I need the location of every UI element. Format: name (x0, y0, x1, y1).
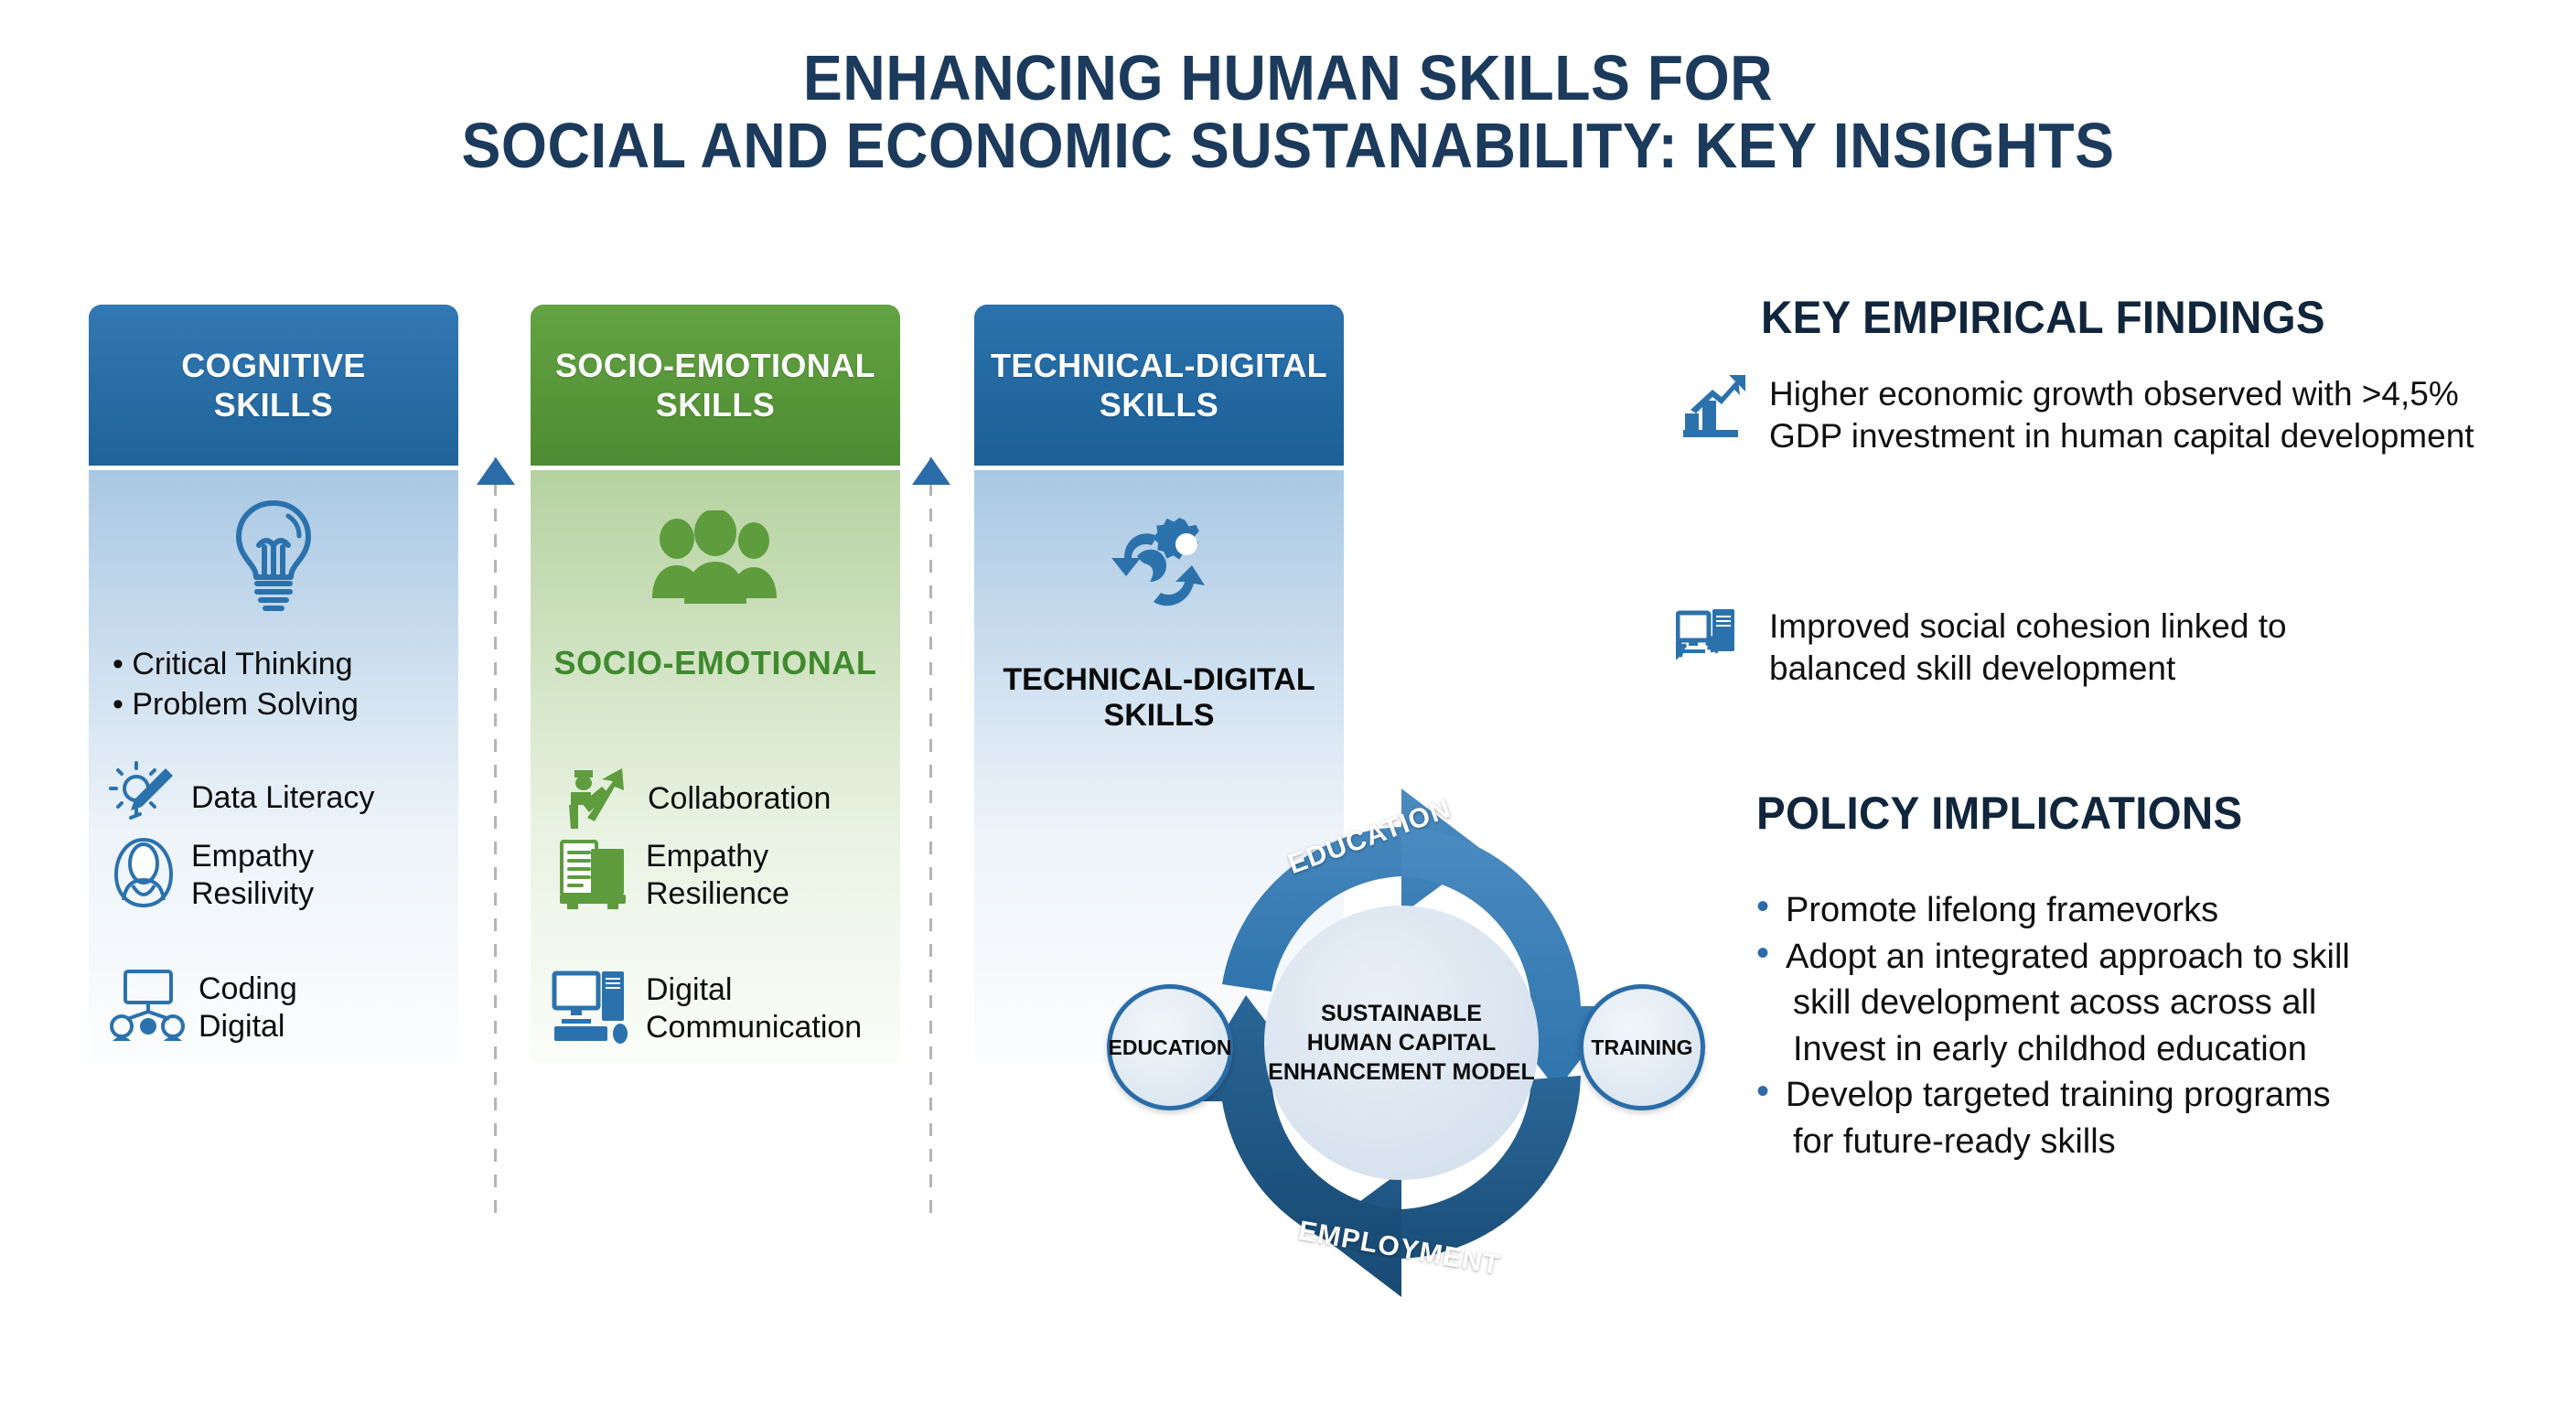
column-cognitive-header-line2: SKILLS (214, 386, 333, 424)
growth-person-arrow-icon (554, 761, 635, 837)
bullet-dot-icon: • (1756, 887, 1769, 926)
socio-item-digital-line1: Digital (646, 972, 732, 1007)
finding-item-1-text: Higher economic growth observed with >4,… (1769, 373, 2474, 458)
cognitive-bullet-list: • Critical Thinking • Problem Solving (113, 644, 449, 724)
socio-item-collaboration[interactable]: Collaboration (554, 761, 831, 837)
desktop-computer-icon (549, 968, 633, 1049)
books-documents-icon (554, 836, 633, 914)
cognitive-item-data-literacy-label: Data Literacy (191, 779, 374, 816)
column-socio-header: SOCIO-EMOTIONAL SKILLS (531, 305, 900, 466)
column-cognitive-header-line1: COGNITIVE (181, 347, 366, 384)
finding-item-2-line1: Improved social cohesion linked to (1769, 607, 2287, 645)
page-title: ENHANCING HUMAN SKILLS FOR SOCIAL AND EC… (0, 44, 2576, 179)
policy-item-2[interactable]: • Adopt an integrated approach to skill (1756, 934, 2561, 981)
infographic-canvas: ENHANCING HUMAN SKILLS FOR SOCIAL AND EC… (0, 0, 2576, 1405)
cognitive-bullet-2: • Problem Solving (113, 684, 449, 724)
cycle-node-education[interactable]: EDUCATION (1107, 984, 1233, 1110)
section-title-policy-implications: POLICY IMPLICATIONS (1756, 787, 2242, 840)
lightbulb-icon (222, 496, 325, 621)
finding-item-1[interactable]: Higher economic growth observed with >4,… (1681, 373, 2505, 458)
cycle-node-training[interactable]: TRAINING (1579, 984, 1705, 1110)
policy-item-4: Invest in early childhod education (1756, 1026, 2561, 1073)
cognitive-item-coding[interactable]: Coding Digital (109, 968, 297, 1047)
bullet-dot-icon: • (1756, 934, 1769, 972)
column-cognitive-header: COGNITIVE SKILLS (89, 305, 458, 466)
socio-item-empathy[interactable]: Empathy Resilience (554, 836, 789, 914)
computer-gears-icon (1676, 606, 1749, 680)
policy-item-1[interactable]: • Promote lifelong framevorks (1756, 887, 2561, 934)
cognitive-bullet-1: • Critical Thinking (113, 644, 449, 684)
cognitive-item-empathy-line1: Empathy (191, 839, 314, 874)
column-cognitive-skills[interactable]: COGNITIVE SKILLS • Critical Thin (89, 305, 458, 1063)
column-separator-2 (929, 457, 932, 1226)
technical-mid-label-line1: TECHNICAL-DIGITAL (1003, 662, 1315, 697)
column-socio-header-line1: SOCIO-EMOTIONAL (555, 347, 875, 384)
column-technical-header-line1: TECHNICAL-DIGITAL (991, 347, 1327, 384)
policy-item-4-text: Invest in early childhod education (1793, 1030, 2307, 1068)
cognitive-item-data-literacy[interactable]: Data Literacy (109, 761, 374, 835)
cognitive-item-coding-line1: Coding (199, 971, 297, 1006)
monitor-network-icon (109, 968, 186, 1047)
cycle-node-education-label: EDUCATION (1109, 1035, 1232, 1060)
socio-item-empathy-line2: Resilience (646, 876, 789, 911)
bar-chart-growth-icon (1681, 373, 1749, 445)
finding-item-2-line2: balanced skill development (1769, 649, 2175, 687)
socio-item-digital-label: Digital Communication (646, 971, 862, 1045)
column-cognitive-body: • Critical Thinking • Problem Solving (89, 470, 458, 1063)
policy-item-3-text: skill development acoss across all (1793, 983, 2316, 1022)
policy-item-3: skill development acoss across all (1756, 980, 2561, 1026)
section-title-key-empirical-findings: KEY EMPIRICAL FINDINGS (1761, 291, 2325, 344)
separator-arrow-2-icon (912, 457, 950, 485)
cognitive-item-coding-line2: Digital (199, 1009, 284, 1044)
cycle-center-line1: SUSTAINABLE (1321, 999, 1482, 1028)
bullet-dot-icon: • (1756, 1072, 1769, 1110)
socio-item-empathy-label: Empathy Resilience (646, 838, 789, 911)
column-socio-header-line2: SKILLS (656, 386, 775, 424)
title-line-1: ENHANCING HUMAN SKILLS FOR (103, 44, 2474, 112)
socio-mid-label: SOCIO-EMOTIONAL (531, 644, 900, 681)
policy-item-2-text: Adopt an integrated approach to skill (1786, 934, 2350, 981)
policy-item-1-text: Promote lifelong framevorks (1786, 887, 2218, 934)
people-group-icon (647, 510, 784, 610)
column-socio-body: SOCIO-EMOTIONAL Colla (531, 470, 900, 1063)
cycle-node-training-label: TRAINING (1591, 1035, 1692, 1060)
column-technical-header-line2: SKILLS (1100, 386, 1218, 424)
column-socio-emotional-skills[interactable]: SOCIO-EMOTIONAL SKILLS SOCIO-EMOTIO (531, 305, 900, 1063)
title-line-2: SOCIAL AND ECONOMIC SUSTANABILITY: KEY I… (103, 112, 2474, 179)
technical-mid-label-line2: SKILLS (1104, 698, 1215, 733)
technical-mid-label: TECHNICAL-DIGITAL SKILLS (974, 662, 1344, 734)
finding-item-1-line1: Higher economic growth observed with >4,… (1769, 375, 2459, 413)
column-separator-1 (494, 457, 497, 1226)
cycle-center-label: SUSTAINABLE HUMAN CAPITAL ENHANCEMENT MO… (1264, 906, 1539, 1180)
person-empathy-icon (109, 836, 178, 914)
socio-item-empathy-line1: Empathy (646, 839, 768, 874)
policy-item-5[interactable]: • Develop targeted training programs (1756, 1072, 2561, 1119)
cycle-center-line2: HUMAN CAPITAL (1307, 1028, 1496, 1057)
idea-pencil-icon (109, 761, 178, 835)
socio-item-collaboration-label: Collaboration (648, 780, 831, 817)
sustainable-human-capital-cycle-diagram[interactable]: EDUCATION EMPLOYMENT SUSTAINABLE HUMAN C… (1127, 768, 1676, 1317)
cognitive-item-empathy-line2: Resilivity (191, 876, 314, 911)
policy-implications-list: • Promote lifelong framevorks • Adopt an… (1756, 887, 2561, 1164)
cognitive-item-empathy-label: Empathy Resilivity (191, 838, 314, 911)
policy-item-6: for future-ready skills (1756, 1119, 2561, 1165)
policy-item-6-text: for future-ready skills (1793, 1122, 2116, 1161)
finding-item-1-line2: GDP investment in human capital developm… (1769, 417, 2474, 455)
socio-item-digital-line2: Communication (646, 1010, 862, 1045)
cognitive-item-coding-label: Coding Digital (199, 971, 297, 1044)
gear-cycle-icon (1100, 512, 1218, 630)
cycle-center-line3: ENHANCEMENT MODEL (1268, 1057, 1535, 1087)
finding-item-2-text: Improved social cohesion linked to balan… (1769, 606, 2287, 691)
policy-item-5-text: Develop targeted training programs (1786, 1072, 2331, 1119)
finding-item-2[interactable]: Improved social cohesion linked to balan… (1676, 606, 2499, 691)
cognitive-item-empathy[interactable]: Empathy Resilivity (109, 836, 314, 914)
separator-arrow-1-icon (477, 457, 515, 485)
socio-item-digital-communication[interactable]: Digital Communication (549, 968, 862, 1049)
column-technical-header: TECHNICAL-DIGITAL SKILLS (974, 305, 1344, 466)
